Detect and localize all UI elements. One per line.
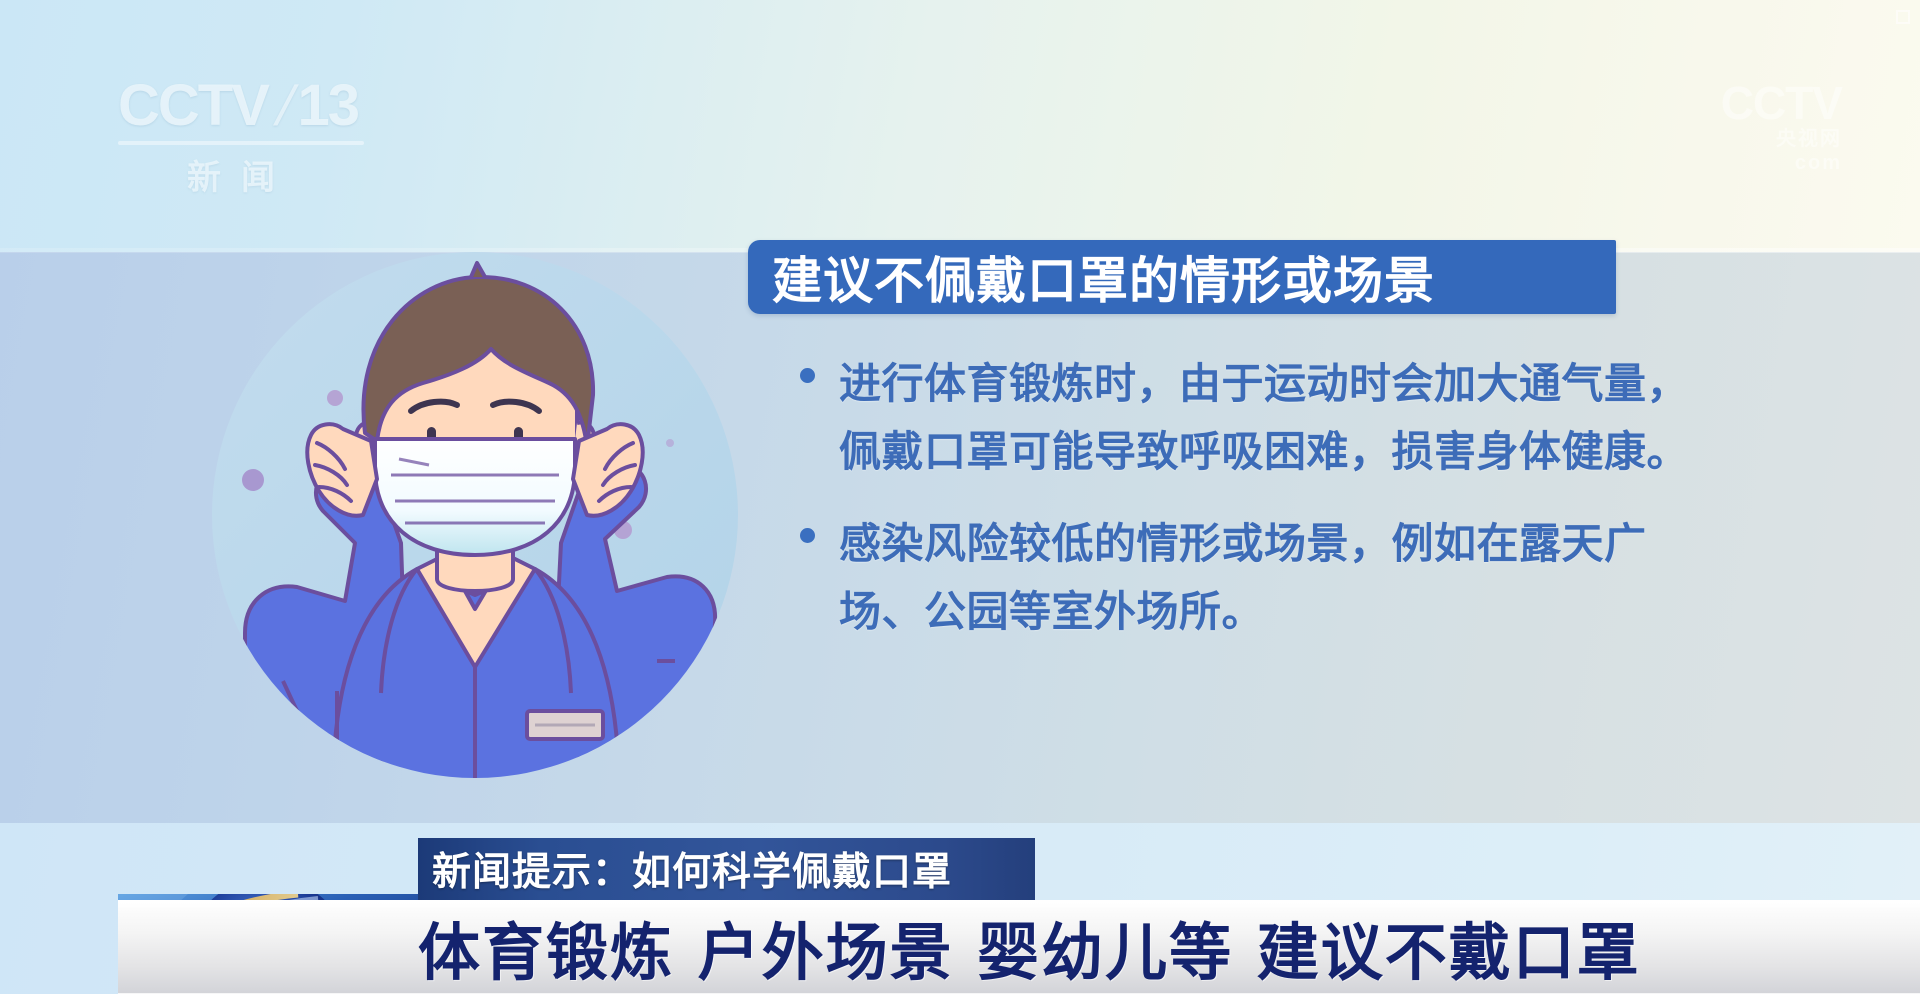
broadcast-frame: CCTV / 13 新闻 CCTV 央视网 com — [0, 0, 1920, 994]
slide-bullet-list: 进行体育锻炼时，由于运动时会加大通气量，佩戴口罩可能导致呼吸困难，损害身体健康。… — [800, 350, 1690, 670]
corner-marker-icon — [1896, 10, 1910, 24]
headline-text: 体育锻炼 户外场景 婴幼儿等 建议不戴口罩 — [418, 902, 1641, 992]
slide-title-banner: 建议不佩戴口罩的情形或场景 — [748, 240, 1616, 314]
bullet-dot-icon — [800, 528, 815, 543]
lower-third-graphic: 新闻提示：如何科学佩戴口罩 体育锻炼 户外场景 婴幼儿等 建议不戴口罩 — [0, 838, 1920, 994]
bullet-text: 进行体育锻炼时，由于运动时会加大通气量，佩戴口罩可能导致呼吸困难，损害身体健康。 — [839, 350, 1690, 486]
slide-title-text: 建议不佩戴口罩的情形或场景 — [772, 241, 1435, 313]
topic-label-text: 新闻提示：如何科学佩戴口罩 — [432, 841, 952, 897]
bullet-dot-icon — [800, 368, 815, 383]
topic-label-bar: 新闻提示：如何科学佩戴口罩 — [418, 838, 1035, 900]
background-band-top — [0, 0, 1920, 252]
list-item: 感染风险较低的情形或场景，例如在露天广场、公园等室外场所。 — [800, 510, 1690, 646]
mask-illustration — [205, 243, 745, 788]
headline-bar: 体育锻炼 户外场景 婴幼儿等 建议不戴口罩 — [118, 900, 1920, 994]
bullet-text: 感染风险较低的情形或场景，例如在露天广场、公园等室外场所。 — [839, 510, 1690, 646]
list-item: 进行体育锻炼时，由于运动时会加大通气量，佩戴口罩可能导致呼吸困难，损害身体健康。 — [800, 350, 1690, 486]
